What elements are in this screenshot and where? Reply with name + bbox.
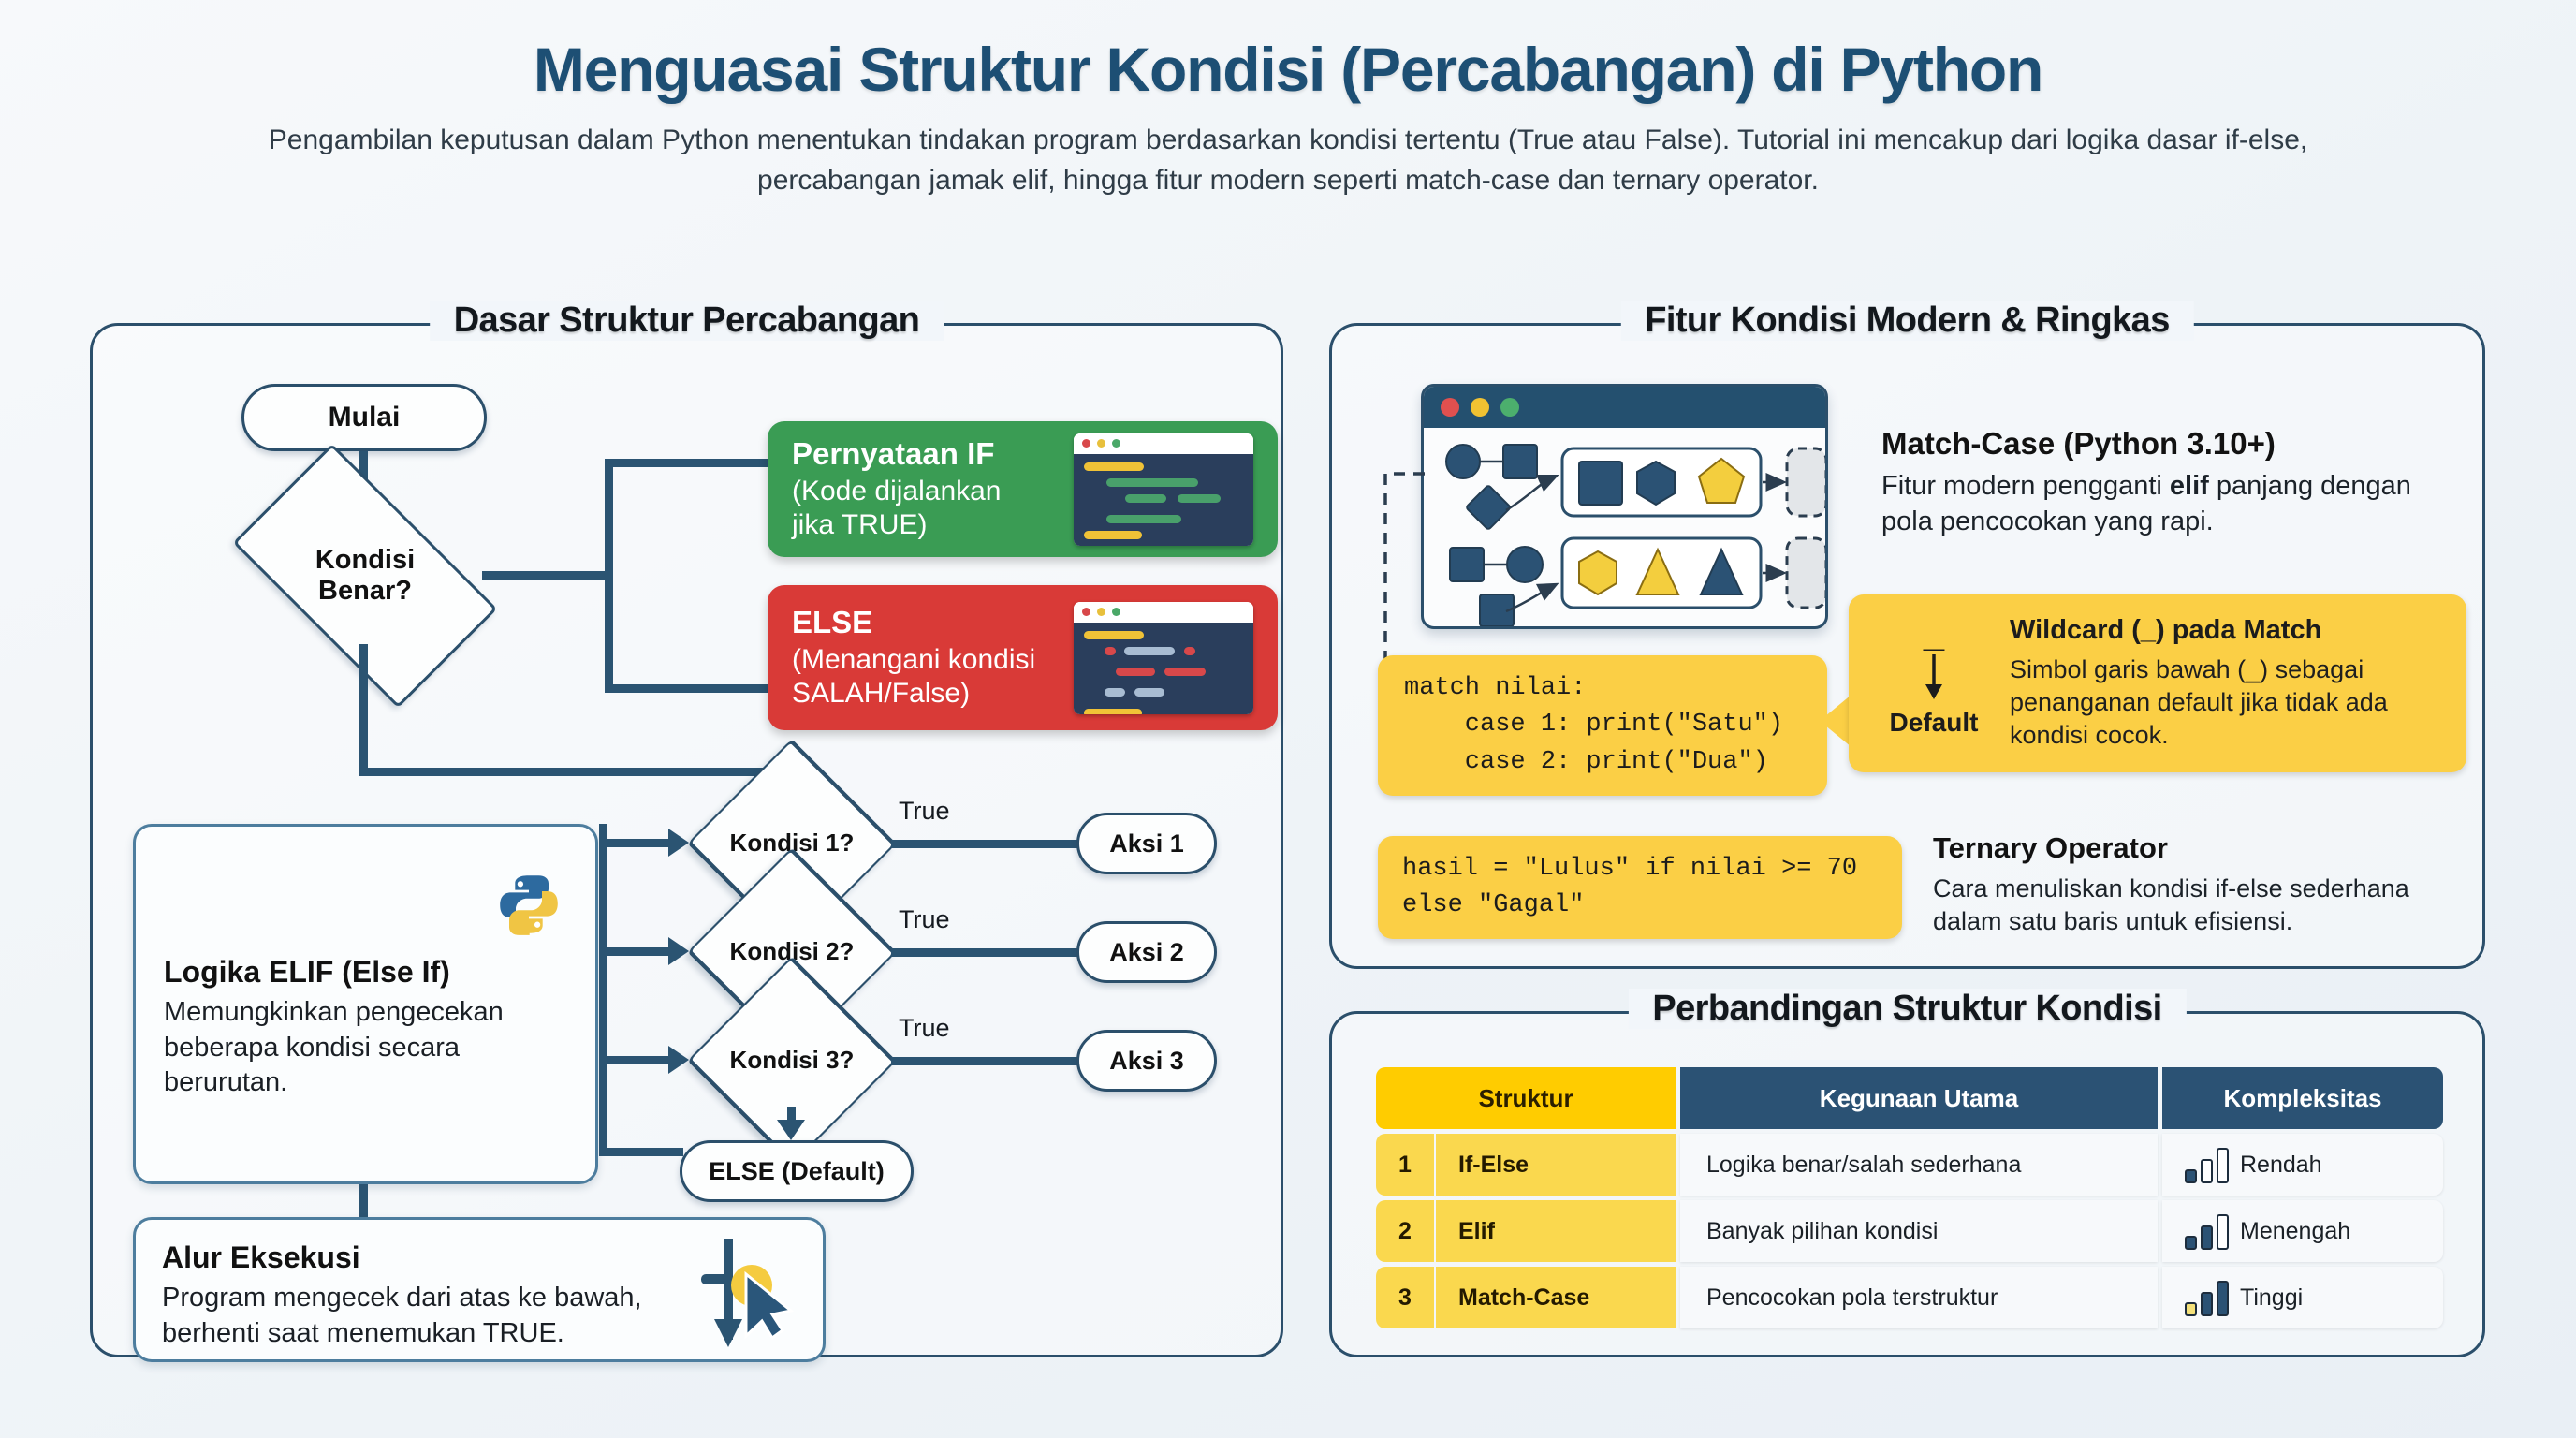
connector-false-down <box>359 644 368 775</box>
table-row[interactable]: 3 Match-Case Pencocokan pola terstruktur… <box>1376 1267 2443 1328</box>
wildcard-symbol: _ <box>1873 621 1995 647</box>
alur-body: Program mengecek dari atas ke bawah, ber… <box>162 1281 705 1351</box>
alur-title: Alur Eksekusi <box>162 1240 705 1275</box>
column-header-struktur: Struktur <box>1376 1067 1676 1129</box>
connector-to-else <box>605 684 773 693</box>
code-line <box>1084 531 1142 539</box>
match-desc-bold: elif <box>2170 471 2209 501</box>
elif-text-block: Logika ELIF (Else If) Memungkinkan penge… <box>164 955 576 1101</box>
bar-3 <box>2217 1214 2229 1250</box>
cell-kegunaan: Banyak pilihan kondisi <box>1680 1200 2158 1262</box>
card-if-body-2: jika TRUE) <box>792 509 927 540</box>
code-window-titlebar <box>1074 433 1253 454</box>
cell-struktur: If-Else <box>1436 1134 1676 1196</box>
code-line <box>1184 647 1195 655</box>
ternary-text-block: Ternary Operator Cara menuliskan kondisi… <box>1933 831 2466 938</box>
bar-2 <box>2201 1159 2213 1183</box>
elif-title: Logika ELIF (Else If) <box>164 955 576 990</box>
window-dot-green <box>1112 439 1120 448</box>
flow-node-mulai-label: Mulai <box>329 402 401 433</box>
card-else-body: (Menangani kondisi SALAH/False) <box>792 643 1061 710</box>
complexity-bars-icon <box>2185 1279 2229 1316</box>
window-dot-yellow <box>1097 439 1105 448</box>
connector-kondisi-branch-v <box>605 459 613 693</box>
arrow-elif-k2 <box>668 937 689 965</box>
cell-row-number: 1 <box>1376 1134 1434 1196</box>
code-window-icon <box>1074 602 1253 714</box>
match-case-desc: Fitur modern pengganti elif panjang deng… <box>1881 469 2443 539</box>
cell-kegunaan: Pencocokan pola terstruktur <box>1680 1267 2158 1328</box>
cell-row-number: 2 <box>1376 1200 1434 1262</box>
card-else-body-2: SALAH/False) <box>792 678 970 709</box>
card-else: ELSE (Menangani kondisi SALAH/False) <box>768 585 1278 730</box>
code-line <box>1084 462 1144 471</box>
code-line <box>1106 478 1198 487</box>
decision-line-2: Benar? <box>318 576 412 606</box>
column-header-kegunaan: Kegunaan Utama <box>1680 1067 2158 1129</box>
arrow-k3-default <box>777 1120 805 1140</box>
cell-kegunaan: Logika benar/salah sederhana <box>1680 1134 2158 1196</box>
flow-node-mulai: Mulai <box>241 384 487 451</box>
wildcard-heading: Wildcard (_) pada Match <box>2010 615 2448 646</box>
card-if-text: Pernyataan IF (Kode dijalankan jika TRUE… <box>792 437 1061 541</box>
down-arrow-icon <box>1923 653 1945 701</box>
complexity-label: Rendah <box>2240 1152 2322 1179</box>
cursor-down-arrow-icon <box>694 1233 806 1350</box>
wildcard-default-label: Default <box>1873 708 1995 738</box>
code-line <box>1124 647 1175 655</box>
table-header-row: Struktur Kegunaan Utama Kompleksitas <box>1376 1067 2443 1129</box>
edge-label-true-1: True <box>899 797 950 826</box>
code-line <box>1164 668 1206 676</box>
flow-node-aksi-2: Aksi 2 <box>1076 921 1217 983</box>
panel-table-title: Perbandingan Struktur Kondisi <box>1628 989 2186 1029</box>
connector-k2-true <box>891 948 1078 957</box>
code-line <box>1084 631 1144 639</box>
card-if-title: Pernyataan IF <box>792 437 1061 471</box>
connector-k3-true <box>891 1057 1078 1065</box>
code-block-ternary: hasil = "Lulus" if nilai >= 70 else "Gag… <box>1378 836 1902 939</box>
arrow-elif-k3 <box>668 1046 689 1074</box>
code-line <box>1106 515 1181 523</box>
flow-node-else-default: ELSE (Default) <box>680 1140 914 1202</box>
cell-kompleksitas: Tinggi <box>2162 1267 2443 1328</box>
cell-kompleksitas: Rendah <box>2162 1134 2443 1196</box>
flow-decision-kondisi-3: Kondisi 3? <box>689 1008 895 1113</box>
bar-3 <box>2217 1148 2229 1183</box>
wildcard-text-block: Wildcard (_) pada Match Simbol garis baw… <box>2010 615 2448 752</box>
illustration-titlebar <box>1424 387 1825 428</box>
flow-node-aksi-3: Aksi 3 <box>1076 1030 1217 1092</box>
match-case-illustration-window <box>1421 384 1828 629</box>
card-else-body-1: (Menangani kondisi <box>792 644 1035 675</box>
connector-elif-to-k3 <box>599 1056 674 1064</box>
complexity-bars-icon <box>2185 1212 2229 1250</box>
header: Menguasai Struktur Kondisi (Percabangan)… <box>0 37 2576 201</box>
code-line <box>1084 709 1142 714</box>
window-dot-yellow <box>1097 608 1105 616</box>
edge-label-true-2: True <box>899 905 950 934</box>
cell-row-number: 3 <box>1376 1267 1434 1328</box>
match-case-code: match nilai: case 1: print("Satu") case … <box>1404 670 1783 780</box>
connector-elif-to-k1 <box>599 839 674 847</box>
callout-notch <box>1820 695 1851 747</box>
window-dot-red <box>1441 398 1459 417</box>
arrow-elif-k1 <box>668 829 689 857</box>
connector-elif-to-default <box>599 1148 683 1156</box>
window-dot-yellow <box>1471 398 1489 417</box>
cell-struktur: Elif <box>1436 1200 1676 1262</box>
connector-k1-true <box>891 840 1078 848</box>
window-dot-green <box>1112 608 1120 616</box>
flow-decision-label: Kondisi Benar? <box>315 545 415 608</box>
match-desc-pre: Fitur modern pengganti <box>1881 471 2170 501</box>
complexity-label: Menengah <box>2240 1218 2350 1245</box>
code-line <box>1116 668 1155 676</box>
wildcard-default-marker: _ Default <box>1873 621 1995 738</box>
match-case-text-block: Match-Case (Python 3.10+) Fitur modern p… <box>1881 426 2443 539</box>
python-logo-icon <box>496 872 562 937</box>
code-window-titlebar <box>1074 602 1253 623</box>
bar-2 <box>2201 1225 2213 1250</box>
kondisi-3-label: Kondisi 3? <box>730 1047 855 1075</box>
table-row[interactable]: 2 Elif Banyak pilihan kondisi Menengah <box>1376 1200 2443 1262</box>
card-pernyataan-if: Pernyataan IF (Kode dijalankan jika TRUE… <box>768 421 1278 557</box>
connector-elif-to-k2 <box>599 947 674 956</box>
box-alur-eksekusi: Alur Eksekusi Program mengecek dari atas… <box>133 1217 826 1362</box>
complexity-label: Tinggi <box>2240 1284 2303 1312</box>
panel-left-title: Dasar Struktur Percabangan <box>430 301 944 341</box>
aksi-1-label: Aksi 1 <box>1109 829 1184 858</box>
table-row[interactable]: 1 If-Else Logika benar/salah sederhana R… <box>1376 1134 2443 1196</box>
card-else-title: ELSE <box>792 606 1061 639</box>
alur-text-block: Alur Eksekusi Program mengecek dari atas… <box>162 1240 705 1351</box>
bar-1 <box>2185 1302 2197 1316</box>
match-case-heading: Match-Case (Python 3.10+) <box>1881 426 2443 462</box>
alur-body-1: Program mengecek dari atas ke bawah, <box>162 1283 642 1313</box>
ternary-heading: Ternary Operator <box>1933 831 2466 865</box>
code-line <box>1105 647 1116 655</box>
alur-body-2: berhenti saat menemukan TRUE. <box>162 1318 564 1348</box>
connector-to-if <box>605 459 773 467</box>
cell-struktur: Match-Case <box>1436 1267 1676 1328</box>
bar-1 <box>2185 1236 2197 1250</box>
code-window-icon <box>1074 433 1253 546</box>
flow-decision-kondisi-benar: Kondisi Benar? <box>248 506 482 646</box>
bar-3 <box>2217 1281 2229 1316</box>
connector-kondisi-branch-h <box>482 571 613 580</box>
ternary-body: Cara menuliskan kondisi if-else sederhan… <box>1933 873 2466 938</box>
code-line <box>1134 688 1164 697</box>
window-dot-red <box>1082 439 1090 448</box>
window-dot-red <box>1082 608 1090 616</box>
card-if-body: (Kode dijalankan jika TRUE) <box>792 475 1061 541</box>
ternary-code: hasil = "Lulus" if nilai >= 70 else "Gag… <box>1402 851 1857 924</box>
code-window-body <box>1074 454 1253 546</box>
decision-line-1: Kondisi <box>315 545 415 575</box>
comparison-table: Struktur Kegunaan Utama Kompleksitas 1 I… <box>1376 1067 2443 1328</box>
aksi-3-label: Aksi 3 <box>1109 1047 1184 1076</box>
connector-false-right <box>359 768 762 776</box>
wildcard-body: Simbol garis bawah (_) sebagai penangana… <box>2010 653 2448 752</box>
card-else-text: ELSE (Menangani kondisi SALAH/False) <box>792 606 1061 710</box>
page-subtitle: Pengambilan keputusan dalam Python menen… <box>202 120 2374 201</box>
flow-node-aksi-1: Aksi 1 <box>1076 813 1217 874</box>
else-default-label: ELSE (Default) <box>709 1157 885 1186</box>
column-header-kompleksitas: Kompleksitas <box>2162 1067 2443 1129</box>
card-if-body-1: (Kode dijalankan <box>792 476 1002 506</box>
edge-label-true-3: True <box>899 1014 950 1043</box>
cell-kompleksitas: Menengah <box>2162 1200 2443 1262</box>
infographic-root: Menguasai Struktur Kondisi (Percabangan)… <box>0 0 2576 1438</box>
page-title: Menguasai Struktur Kondisi (Percabangan)… <box>0 37 2576 103</box>
code-line <box>1105 688 1125 697</box>
connector-elif-bus-v <box>599 824 607 1152</box>
callout-wildcard: _ Default Wildcard (_) pada Match Simbol… <box>1849 594 2466 772</box>
code-block-match-case: match nilai: case 1: print("Satu") case … <box>1378 655 1827 796</box>
window-dot-green <box>1500 398 1519 417</box>
bar-2 <box>2201 1292 2213 1316</box>
bar-1 <box>2185 1169 2197 1183</box>
code-window-body <box>1074 623 1253 714</box>
pattern-matching-diagram <box>1424 428 1828 629</box>
aksi-2-label: Aksi 2 <box>1109 938 1184 967</box>
box-logika-elif: Logika ELIF (Else If) Memungkinkan penge… <box>133 824 598 1184</box>
code-line <box>1125 494 1166 503</box>
complexity-bars-icon <box>2185 1146 2229 1183</box>
panel-modern-title: Fitur Kondisi Modern & Ringkas <box>1620 301 2193 341</box>
code-line <box>1178 494 1221 503</box>
elif-body: Memungkinkan pengecekan beberapa kondisi… <box>164 995 576 1101</box>
